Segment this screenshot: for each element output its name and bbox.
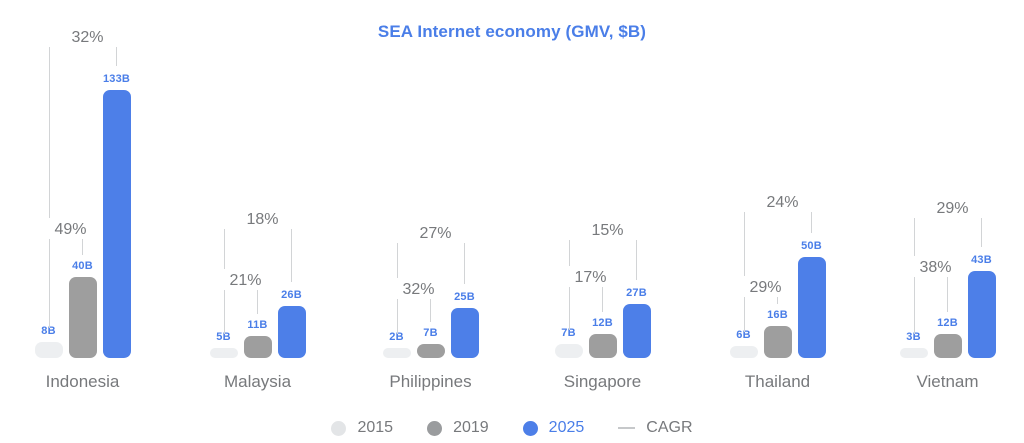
- bar-value-label: 50B: [790, 240, 834, 252]
- category-label-indonesia: Indonesia: [10, 372, 155, 392]
- bar-vietnam-2015[interactable]: [900, 348, 928, 358]
- bar-indonesia-2015[interactable]: [35, 342, 63, 358]
- legend-circle-icon: [331, 421, 346, 436]
- bar-thailand-2015[interactable]: [730, 346, 758, 358]
- bracket-right-leg: [291, 222, 292, 282]
- category-label-philippines: Philippines: [358, 372, 503, 392]
- bar-malaysia-2015[interactable]: [210, 348, 238, 358]
- legend-circle-icon: [427, 421, 442, 436]
- bracket-right-leg: [464, 236, 465, 284]
- bracket-left-leg: [224, 283, 225, 334]
- bar-value-label: 12B: [926, 317, 970, 329]
- bar-value-label: 27B: [615, 287, 659, 299]
- bar-value-label: 7B: [409, 327, 453, 339]
- bar-value-label: 133B: [95, 73, 139, 85]
- cagr-value-label: 21%: [224, 272, 268, 290]
- bracket-left-leg: [224, 222, 225, 269]
- bracket-left-leg: [49, 232, 50, 328]
- bar-value-label: 12B: [581, 317, 625, 329]
- bar-group: 5B11B26B21%18%Malaysia: [185, 0, 330, 400]
- cagr-value-label: 32%: [397, 281, 441, 299]
- legend-circle-icon: [523, 421, 538, 436]
- bar-philippines-2019[interactable]: [417, 344, 445, 358]
- cagr-value-label: 17%: [569, 269, 613, 287]
- bar-value-label: 16B: [756, 309, 800, 321]
- bar-indonesia-2019[interactable]: [69, 277, 97, 358]
- bar-value-label: 25B: [443, 291, 487, 303]
- legend-dash-icon: [618, 427, 635, 429]
- chart-legend: 201520192025CAGR: [0, 419, 1024, 437]
- legend-label: 2019: [453, 419, 489, 437]
- category-label-vietnam: Vietnam: [875, 372, 1020, 392]
- cagr-value-label: 24%: [744, 194, 822, 212]
- bar-value-label: 26B: [270, 289, 314, 301]
- category-label-malaysia: Malaysia: [185, 372, 330, 392]
- bar-group: 3B12B43B38%29%Vietnam: [875, 0, 1020, 400]
- bar-indonesia-2025[interactable]: [103, 90, 131, 358]
- cagr-value-label: 29%: [914, 200, 992, 218]
- cagr-value-label: 27%: [397, 225, 475, 243]
- cagr-value-label: 49%: [49, 221, 93, 239]
- bar-singapore-2019[interactable]: [589, 334, 617, 358]
- bar-group: 8B40B133B49%32%Indonesia: [10, 0, 155, 400]
- legend-item-cagr[interactable]: CAGR: [618, 419, 692, 437]
- legend-label: 2015: [357, 419, 393, 437]
- cagr-value-label: 32%: [49, 29, 127, 47]
- category-label-thailand: Thailand: [705, 372, 850, 392]
- bar-philippines-2025[interactable]: [451, 308, 479, 358]
- bar-philippines-2015[interactable]: [383, 348, 411, 358]
- cagr-value-label: 18%: [224, 211, 302, 229]
- bar-thailand-2019[interactable]: [764, 326, 792, 358]
- bracket-left-leg: [49, 40, 50, 218]
- legend-label: CAGR: [646, 419, 692, 437]
- cagr-value-label: 29%: [744, 279, 788, 297]
- cagr-value-label: 15%: [569, 222, 647, 240]
- chart-plot-area: 8B40B133B49%32%Indonesia5B11B26B21%18%Ma…: [0, 0, 1024, 400]
- bar-value-label: 43B: [960, 254, 1004, 266]
- chart-container: SEA Internet economy (GMV, $B) 8B40B133B…: [0, 0, 1024, 443]
- legend-item-2015[interactable]: 2015: [331, 419, 393, 437]
- bar-group: 7B12B27B17%15%Singapore: [530, 0, 675, 400]
- bar-value-label: 11B: [236, 319, 280, 331]
- bar-vietnam-2025[interactable]: [968, 271, 996, 358]
- bracket-left-leg: [914, 270, 915, 334]
- bar-malaysia-2025[interactable]: [278, 306, 306, 358]
- bar-singapore-2025[interactable]: [623, 304, 651, 358]
- legend-item-2019[interactable]: 2019: [427, 419, 489, 437]
- bar-value-label: 40B: [61, 260, 105, 272]
- bar-malaysia-2019[interactable]: [244, 336, 272, 358]
- bar-group: 2B7B25B32%27%Philippines: [358, 0, 503, 400]
- bar-vietnam-2019[interactable]: [934, 334, 962, 358]
- bracket-left-leg: [744, 205, 745, 276]
- cagr-value-label: 38%: [914, 259, 958, 277]
- category-label-singapore: Singapore: [530, 372, 675, 392]
- bar-group: 6B16B50B29%24%Thailand: [705, 0, 850, 400]
- bar-thailand-2025[interactable]: [798, 257, 826, 358]
- bracket-left-leg: [569, 280, 570, 330]
- bar-singapore-2015[interactable]: [555, 344, 583, 358]
- legend-item-2025[interactable]: 2025: [523, 419, 585, 437]
- legend-label: 2025: [549, 419, 585, 437]
